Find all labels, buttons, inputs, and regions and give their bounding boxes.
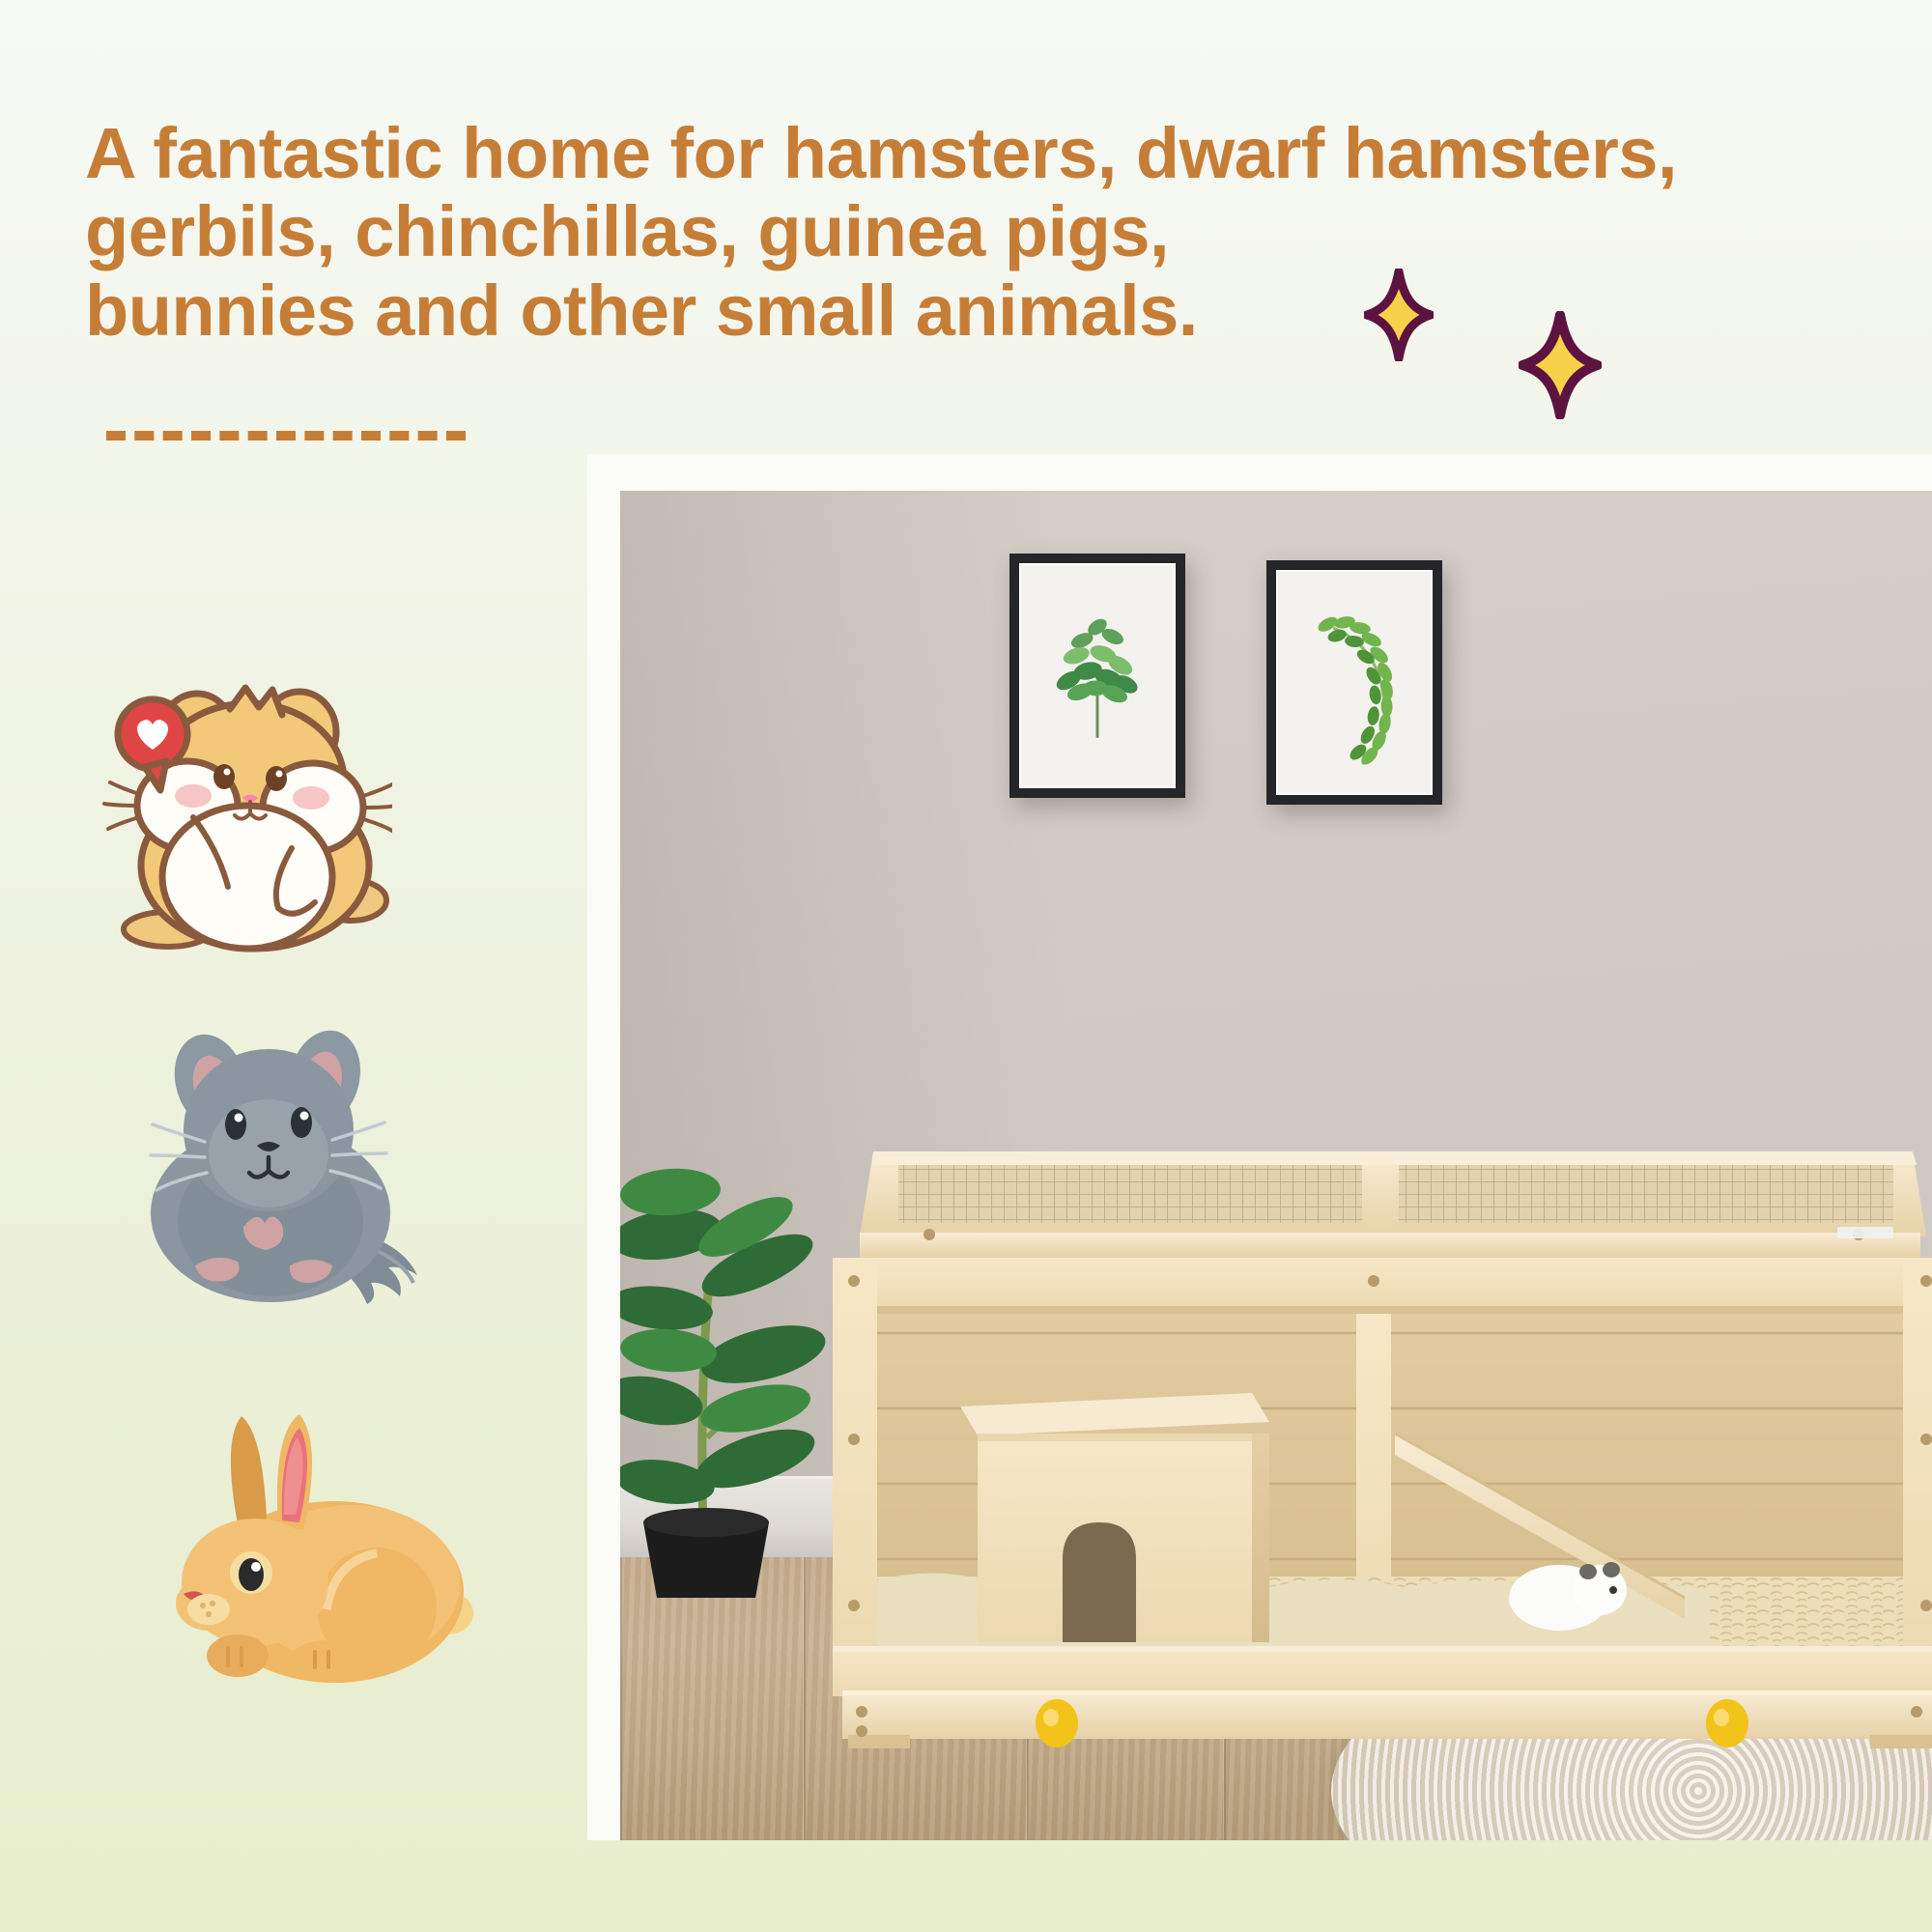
- sparkle-star-small: [1364, 269, 1434, 361]
- framed-botanical-print-right: [1266, 560, 1442, 805]
- product-photo-panel: [587, 454, 1932, 1840]
- drawer-knob-right: [1706, 1699, 1748, 1747]
- chinchilla-illustration: [135, 1022, 425, 1304]
- rabbit-illustration: [145, 1410, 473, 1690]
- wooden-hamster-cage: [815, 1144, 1932, 1752]
- page-title-line-2: gerbils, chinchillas, guinea pigs,: [85, 192, 1379, 270]
- leafy-plant-artwork: [1021, 565, 1174, 786]
- page-title-line-3: bunnies and other small animals.: [85, 271, 1379, 350]
- page-title-line-1: A fantastic home for hamsters, dwarf ham…: [85, 114, 1379, 192]
- heart-speech-bubble-icon: [108, 694, 201, 794]
- fern-frond-artwork: [1278, 572, 1431, 793]
- potted-plant: [620, 1119, 833, 1602]
- page-title: A fantastic home for hamsters, dwarf ham…: [85, 114, 1379, 350]
- framed-botanical-print-left: [1009, 554, 1185, 798]
- dashed-divider: [106, 431, 466, 440]
- drawer-knob-left: [1036, 1699, 1078, 1747]
- product-photo: [620, 491, 1932, 1840]
- sparkle-star-large: [1519, 311, 1602, 419]
